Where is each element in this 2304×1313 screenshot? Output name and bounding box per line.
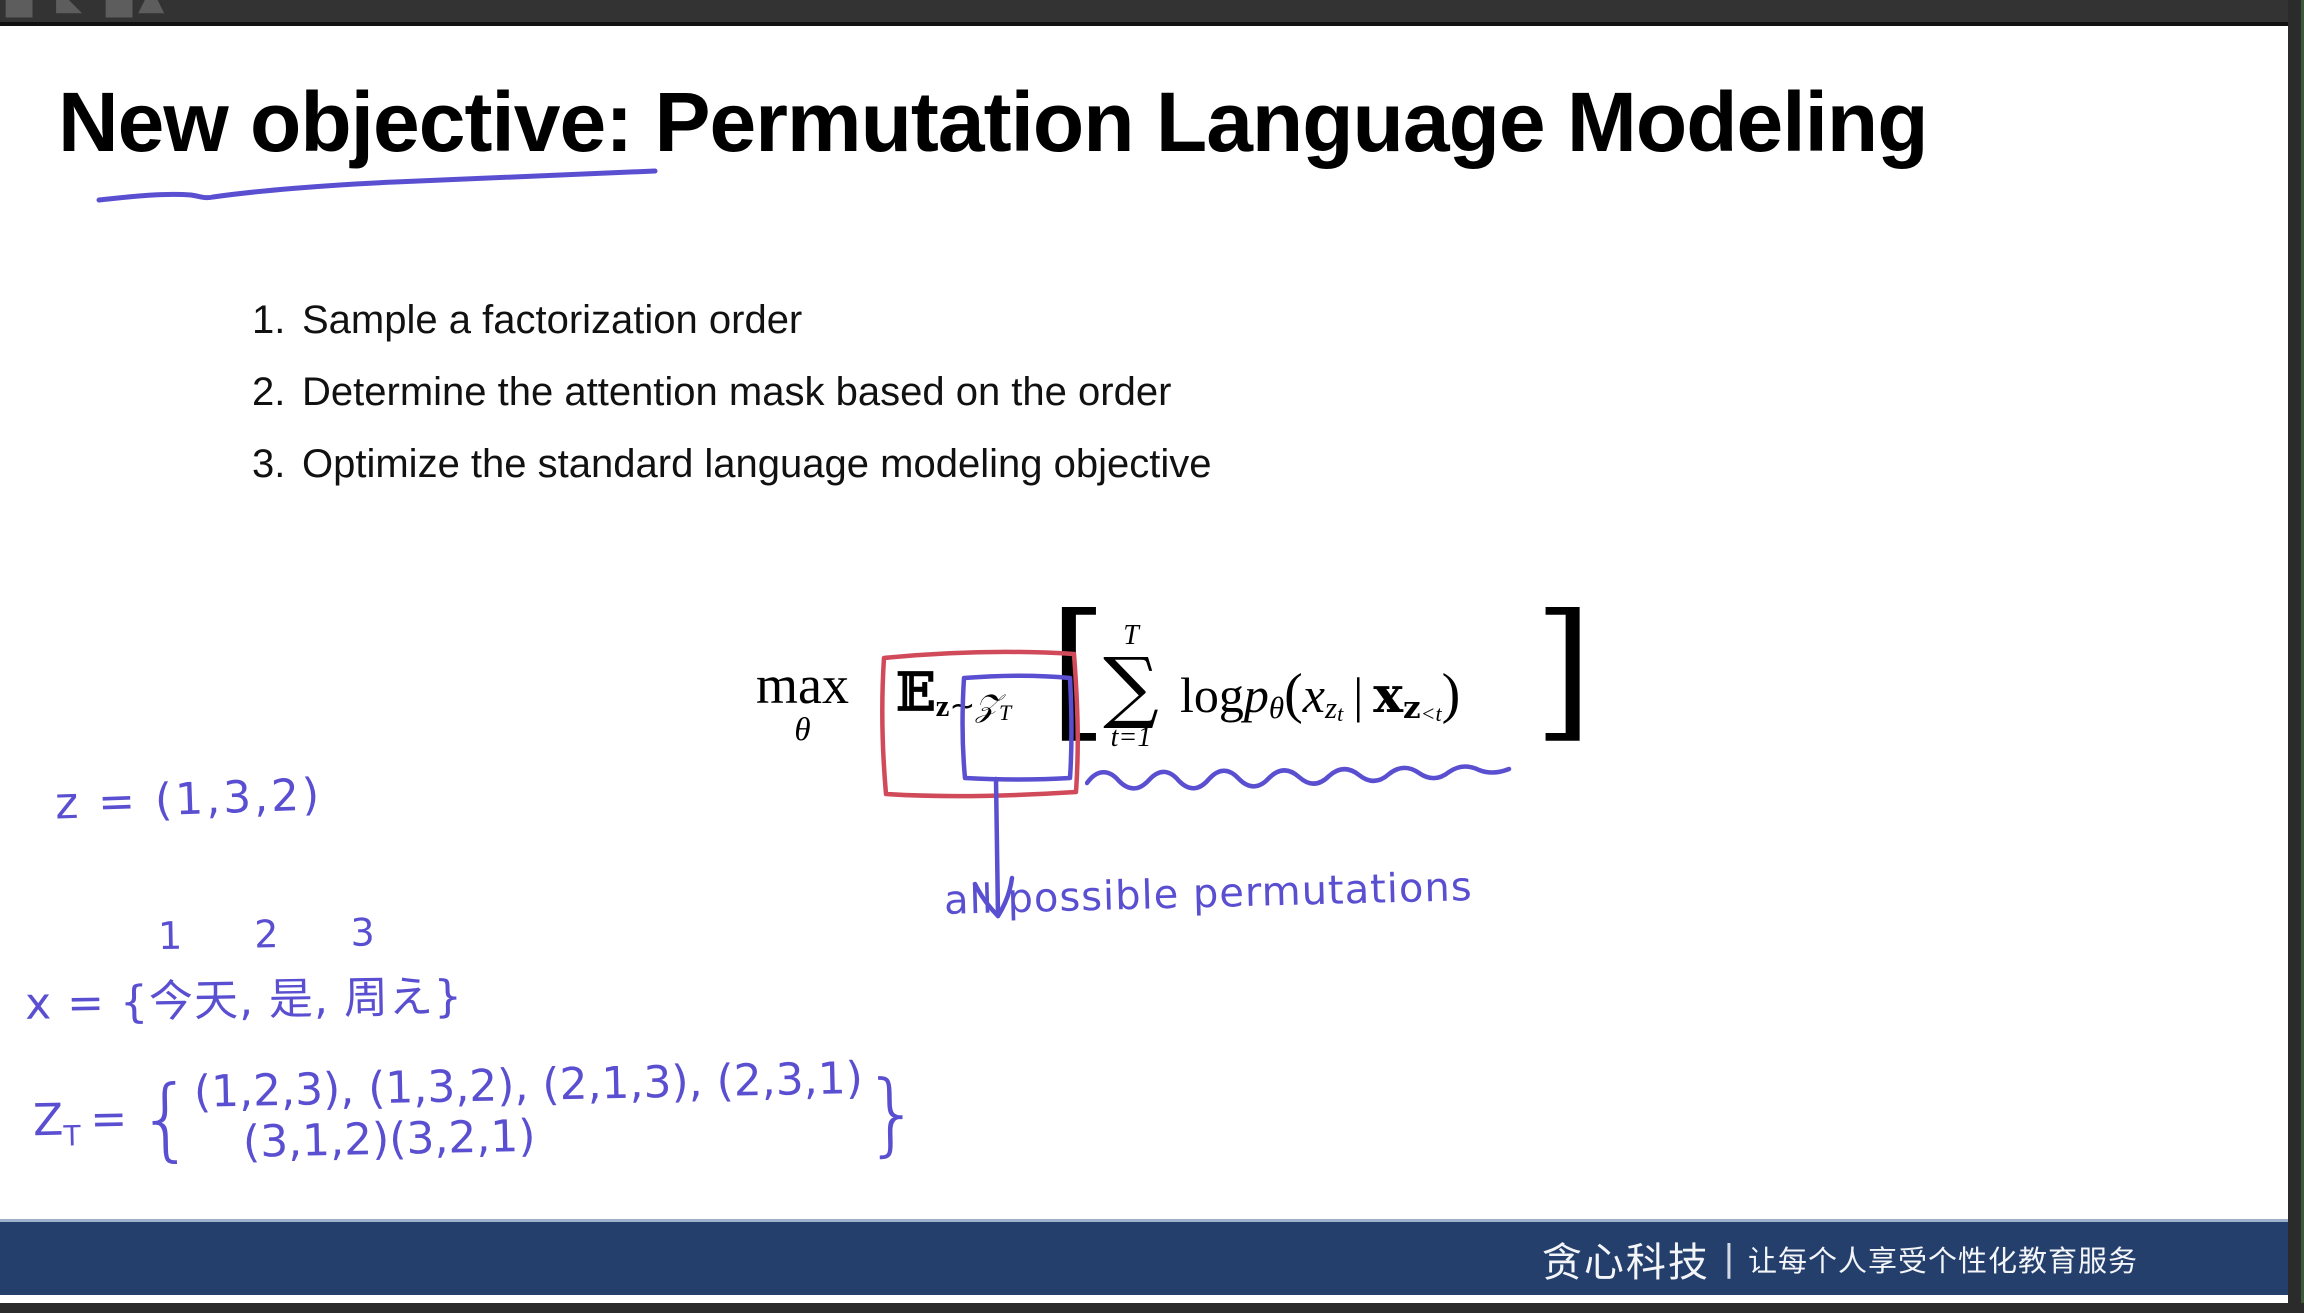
expectation-subscript-tilde: ∼ [949,688,975,723]
equation-trailing-period: . [1566,676,1579,734]
perm-set-rows: (1,2,3), (1,3,2), (2,1,3), (2,3,1)(3,1,2… [193,1054,864,1169]
handwritten-permutation-set: ZT={(1,2,3), (1,3,2), (2,1,3), (2,3,1)(3… [32,1053,922,1173]
paren-close: ) [1442,663,1461,725]
max-operator: max θ [756,658,849,747]
sum-lower-limit: t=1 [1086,724,1176,752]
context-subscript: z [1403,690,1421,726]
list-item: 3. Optimize the standard language modeli… [252,442,1952,487]
perm-set-open-brace: { [136,1083,195,1156]
log-probability-term: logpθ(xzt|xz<t) [1180,662,1460,727]
screen-root: ▄ ◣ ▄▲ New objective: Permutation Langua… [0,0,2304,1313]
top-chrome-cropped-glyphs: ▄ ◣ ▄▲ [6,0,170,18]
handwritten-sentence-set: x = {今天, 是, 周え} [24,960,463,1032]
expectation-symbol: 𝔼 [896,662,936,723]
expectation-subscript-variable: z [936,688,950,723]
footer-brand: 贪心科技 | 让每个人享受个性化教育服务 [1542,1230,2138,1288]
list-item-label: Sample a factorization order [302,298,802,343]
list-item-label: Determine the attention mask based on th… [302,370,1171,415]
window-bottom-chrome [0,1303,2304,1313]
probability-subscript: θ [1269,690,1284,725]
context-sub-subscript: <t [1421,701,1442,726]
list-item-number: 3. [252,442,302,487]
title-underline-annotation [95,166,715,206]
objective-equation: max θ 𝔼z∼𝒵T [ T ∑ t=1 logpθ(xzt|xz<t) ] … [756,616,1576,786]
max-operator-symbol: max [756,658,849,712]
handwritten-z-sample: z = (1,3,2) [54,769,323,829]
context-variable: x [1373,665,1403,724]
expectation-subscript-set: 𝒵 [975,688,999,724]
perm-set-lead: Z [33,1096,64,1147]
handwritten-permutations-label: all possible permutations [943,864,1473,924]
sum-symbol: ∑ [1086,650,1176,724]
footer-tagline: 让每个人享受个性化教育服务 [1748,1238,2138,1280]
list-item: 2. Determine the attention mask based on… [252,370,1952,415]
page-title: New objective: Permutation Language Mode… [58,74,2238,171]
list-item: 1. Sample a factorization order [252,298,1952,343]
expectation-subscript: z∼𝒵T [936,688,1012,723]
perm-set-close-brace: } [863,1077,922,1150]
list-item-number: 1. [252,298,302,343]
expectation-subscript-set-sub: T [999,700,1011,725]
list-item-label: Optimize the standard language modeling … [302,442,1211,487]
bracket-right: ] [1534,616,1593,724]
summation-term: T ∑ t=1 [1086,622,1176,752]
conditional-bar: | [1343,667,1373,723]
perm-set-equals: = [80,1094,138,1146]
handwritten-word-indices: 1 2 3 [158,910,405,958]
expectation-term: 𝔼z∼𝒵T [896,662,1011,726]
slide-canvas: New objective: Permutation Language Mode… [0,26,2288,1303]
numbered-steps-list: 1. Sample a factorization order 2. Deter… [252,298,1952,514]
footer-brand-name: 贪心科技 [1542,1230,1710,1288]
target-variable: x [1303,667,1325,723]
log-text: log [1180,667,1244,723]
footer-separator: | [1710,1238,1748,1279]
target-subscript: z [1325,690,1337,725]
perm-set-lead-sub: T [63,1120,81,1153]
slide-footer: 贪心科技 | 让每个人享受个性化教育服务 [0,1219,2288,1295]
paren-open: ( [1284,663,1303,725]
probability-symbol: p [1244,667,1269,723]
window-top-chrome: ▄ ◣ ▄▲ [0,0,2304,22]
max-operator-subscript: θ [756,714,849,747]
list-item-number: 2. [252,370,302,415]
